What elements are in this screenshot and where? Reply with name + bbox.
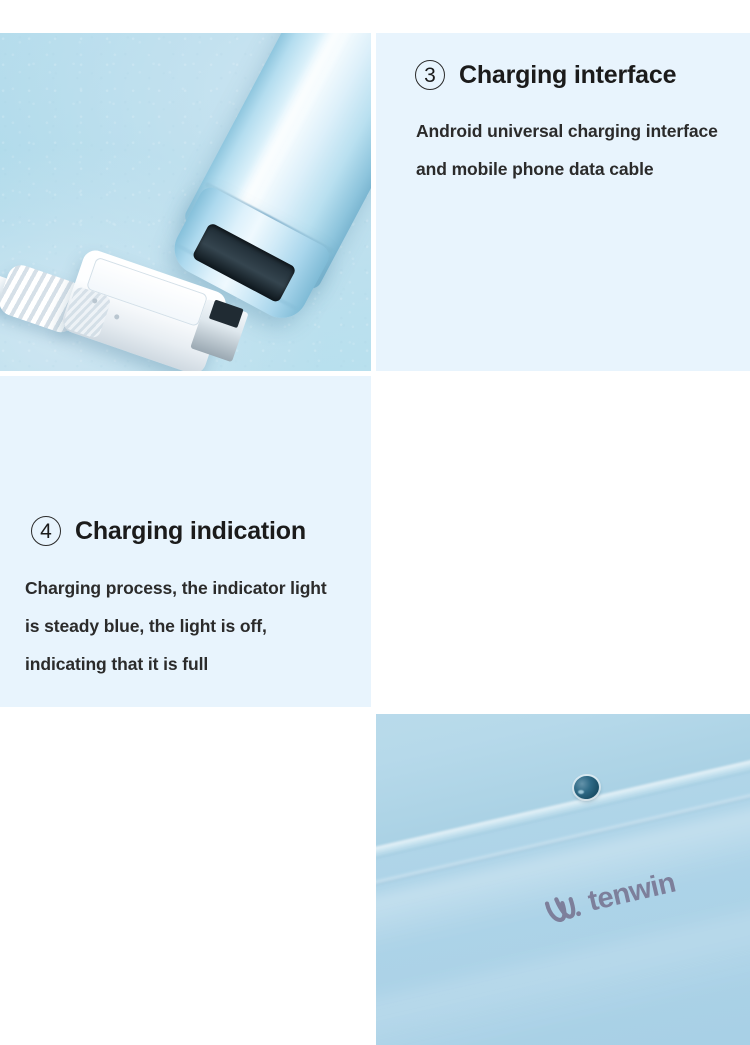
step4-body-line-2: is steady blue, the light is off,	[25, 607, 327, 645]
photo-charging-port: nwin 天文	[0, 33, 371, 371]
step3-body: Android universal charging interface and…	[416, 112, 718, 188]
step3-title: Charging interface	[459, 61, 676, 90]
panel-grid: nwin 天文 3 Charging int	[0, 33, 750, 707]
infographic-canvas: nwin 天文 3 Charging int	[0, 0, 750, 750]
step-charging-interface: 3 Charging interface Android universal c…	[376, 33, 750, 371]
step3-number-badge: 3	[415, 60, 445, 90]
step4-title: Charging indication	[75, 517, 306, 546]
step3-body-line-2: and mobile phone data cable	[416, 150, 718, 188]
indicator-led-specular	[578, 790, 584, 794]
step3-headline: 3 Charging interface	[415, 60, 676, 90]
step4-number-badge: 4	[31, 516, 61, 546]
step4-headline: 4 Charging indication	[31, 516, 306, 546]
tenwin-mark-icon	[543, 890, 585, 927]
step-charging-indication: 4 Charging indication Charging process, …	[0, 376, 371, 707]
step4-body-line-3: indicating that it is full	[25, 645, 327, 683]
step4-body-line-1: Charging process, the indicator light	[25, 569, 327, 607]
photo-indicator-light: tenwin	[376, 714, 750, 1045]
step4-body: Charging process, the indicator light is…	[25, 569, 327, 683]
step3-body-line-1: Android universal charging interface	[416, 112, 718, 150]
